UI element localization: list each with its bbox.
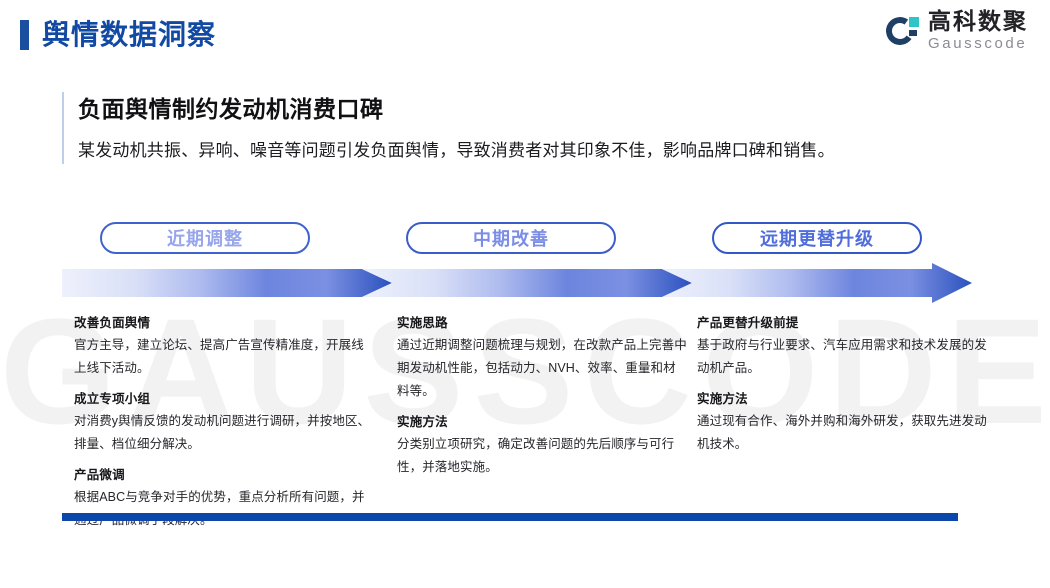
stage-pill-label: 近期调整	[167, 225, 243, 251]
gausscode-logo-icon	[886, 14, 920, 48]
detail-section-heading: 实施思路	[397, 312, 687, 334]
detail-section: 改善负面舆情 官方主导，建立论坛、提高广告宣传精准度，开展线上线下活动。	[74, 312, 374, 380]
lead-block: 负面舆情制约发动机消费口碑 某发动机共振、异响、噪音等问题引发负面舆情，导致消费…	[62, 92, 962, 164]
detail-section-body: 通过近期调整问题梳理与规划，在改款产品上完善中期发动机性能，包括动力、NVH、效…	[397, 334, 687, 403]
detail-section: 产品微调 根据ABC与竞争对手的优势，重点分析所有问题，并通过产品微调手段解决。	[74, 464, 374, 532]
detail-section-body: 基于政府与行业要求、汽车应用需求和技术发展的发动机产品。	[697, 334, 992, 380]
detail-section: 产品更替升级前提 基于政府与行业要求、汽车应用需求和技术发展的发动机产品。	[697, 312, 992, 380]
brand-logo-text: 高科数聚 Gausscode	[928, 10, 1028, 51]
brand-logo: 高科数聚 Gausscode	[886, 10, 1028, 51]
timeline-arrow-icon	[62, 263, 972, 303]
detail-section-heading: 产品更替升级前提	[697, 312, 992, 334]
page-title: 舆情数据洞察	[42, 16, 216, 54]
detail-section-heading: 产品微调	[74, 464, 374, 486]
brand-name-en: Gausscode	[928, 36, 1028, 51]
slide-root: GAUSSCODE 舆情数据洞察 高科数聚 Gausscode 负面舆情制约发动…	[0, 0, 1050, 588]
stage-column-long-term: 产品更替升级前提 基于政府与行业要求、汽车应用需求和技术发展的发动机产品。 实施…	[697, 312, 992, 456]
logo-square-shape	[909, 17, 919, 27]
detail-section-heading: 实施方法	[397, 411, 687, 433]
detail-section-body: 通过现有合作、海外并购和海外研发，获取先进发动机技术。	[697, 410, 992, 456]
stage-pill-label: 远期更替升级	[760, 225, 874, 251]
detail-section: 成立专项小组 对消费y舆情反馈的发动机问题进行调研，并按地区、排量、档位细分解决…	[74, 388, 374, 456]
detail-section-body: 对消费y舆情反馈的发动机问题进行调研，并按地区、排量、档位细分解决。	[74, 410, 374, 456]
lead-title: 负面舆情制约发动机消费口碑	[78, 92, 962, 126]
brand-name-cn: 高科数聚	[928, 10, 1028, 33]
header-accent-bar	[20, 20, 29, 50]
slide-header: 舆情数据洞察 高科数聚 Gausscode	[0, 0, 1050, 72]
stage-pill-row: 近期调整 中期改善 远期更替升级	[0, 222, 1050, 258]
stage-column-mid-term: 实施思路 通过近期调整问题梳理与规划，在改款产品上完善中期发动机性能，包括动力、…	[397, 312, 687, 479]
logo-stub-shape	[909, 30, 917, 36]
detail-section: 实施方法 分类别立项研究，确定改善问题的先后顺序与可行性，并落地实施。	[397, 411, 687, 479]
detail-section-body: 分类别立项研究，确定改善问题的先后顺序与可行性，并落地实施。	[397, 433, 687, 479]
detail-section-heading: 成立专项小组	[74, 388, 374, 410]
stage-pill-long-term[interactable]: 远期更替升级	[712, 222, 922, 254]
footer-rule	[62, 513, 958, 521]
detail-section: 实施方法 通过现有合作、海外并购和海外研发，获取先进发动机技术。	[697, 388, 992, 456]
detail-section-body: 根据ABC与竞争对手的优势，重点分析所有问题，并通过产品微调手段解决。	[74, 486, 374, 532]
detail-section-heading: 实施方法	[697, 388, 992, 410]
stage-pill-mid-term[interactable]: 中期改善	[406, 222, 616, 254]
detail-section-heading: 改善负面舆情	[74, 312, 374, 334]
timeline-arrow	[62, 263, 972, 303]
lead-subtitle: 某发动机共振、异响、噪音等问题引发负面舆情，导致消费者对其印象不佳，影响品牌口碑…	[78, 138, 962, 164]
detail-section-body: 官方主导，建立论坛、提高广告宣传精准度，开展线上线下活动。	[74, 334, 374, 380]
stage-pill-label: 中期改善	[473, 225, 549, 251]
stage-column-near-term: 改善负面舆情 官方主导，建立论坛、提高广告宣传精准度，开展线上线下活动。 成立专…	[74, 312, 374, 532]
stage-pill-near-term[interactable]: 近期调整	[100, 222, 310, 254]
detail-section: 实施思路 通过近期调整问题梳理与规划，在改款产品上完善中期发动机性能，包括动力、…	[397, 312, 687, 403]
